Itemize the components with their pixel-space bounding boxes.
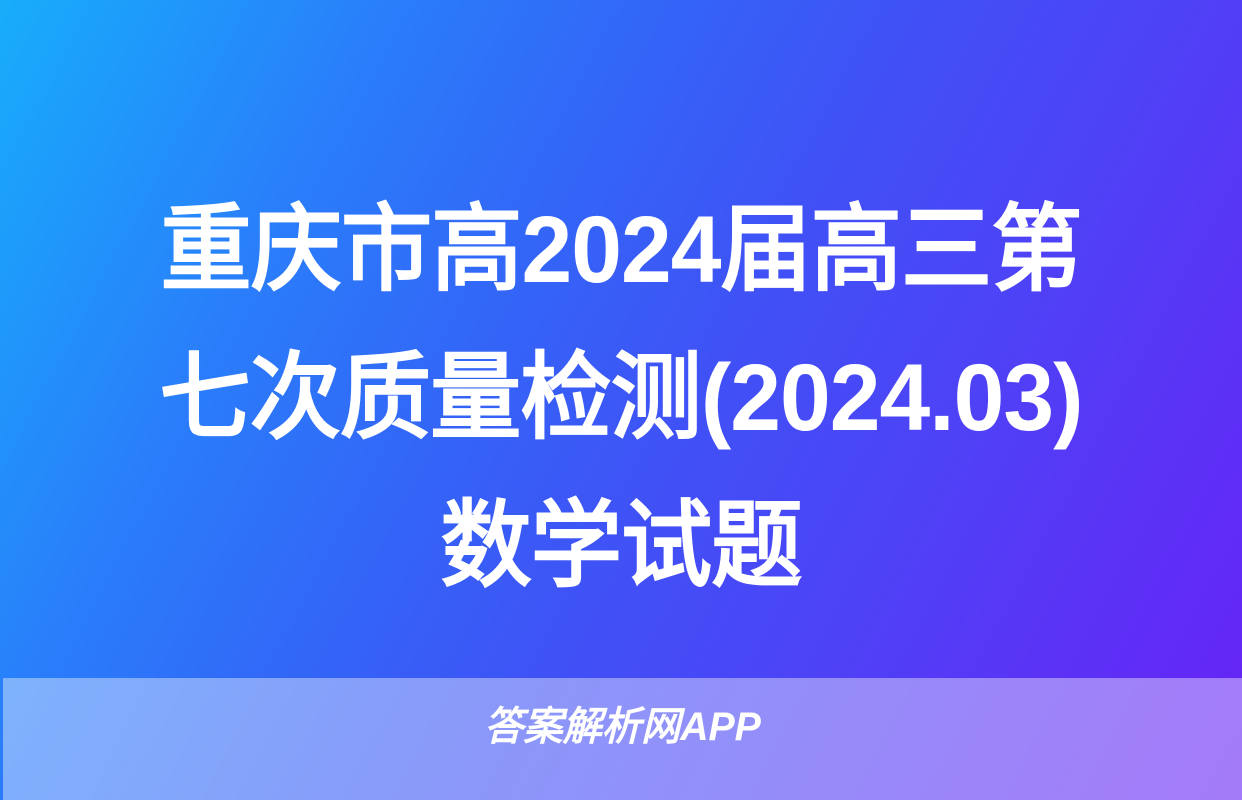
title-line-3: 数学试题	[48, 472, 1194, 620]
page-title: 重庆市高2024届高三第 七次质量检测(2024.03) 数学试题	[0, 176, 1242, 620]
title-line-2: 七次质量检测(2024.03)	[48, 324, 1194, 472]
title-line-1: 重庆市高2024届高三第	[48, 176, 1194, 324]
watermark-label: 答案解析网APP	[15, 704, 1229, 750]
exam-poster: 重庆市高2024届高三第 七次质量检测(2024.03) 数学试题 答案解析网A…	[0, 0, 1242, 800]
watermark-band: 答案解析网APP	[3, 678, 1242, 800]
